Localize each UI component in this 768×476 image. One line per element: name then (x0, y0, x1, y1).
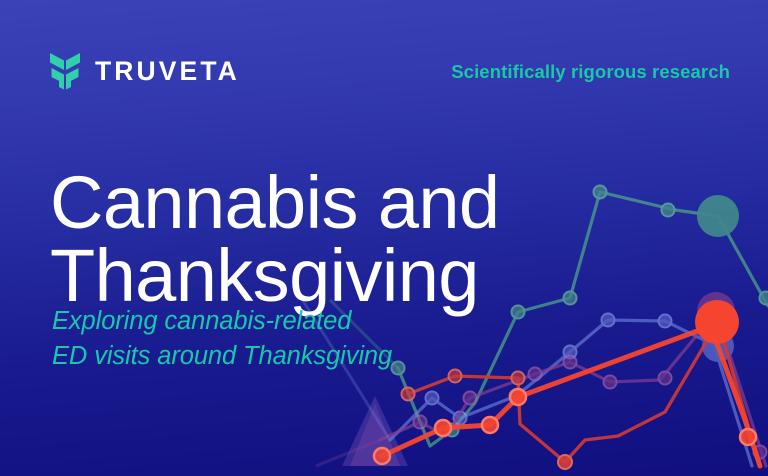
red-highlight-marker (695, 300, 739, 344)
truveta-chevron-logo-icon (48, 51, 82, 91)
brand-logo[interactable]: TRUVETA (48, 51, 240, 91)
promo-banner: TRUVETA Scientifically rigorous research… (0, 0, 768, 476)
green-highlight-marker (697, 195, 739, 237)
series-red-bright (374, 300, 760, 466)
brand-wordmark: TRUVETA (95, 58, 240, 85)
tagline: Scientifically rigorous research (451, 61, 730, 83)
